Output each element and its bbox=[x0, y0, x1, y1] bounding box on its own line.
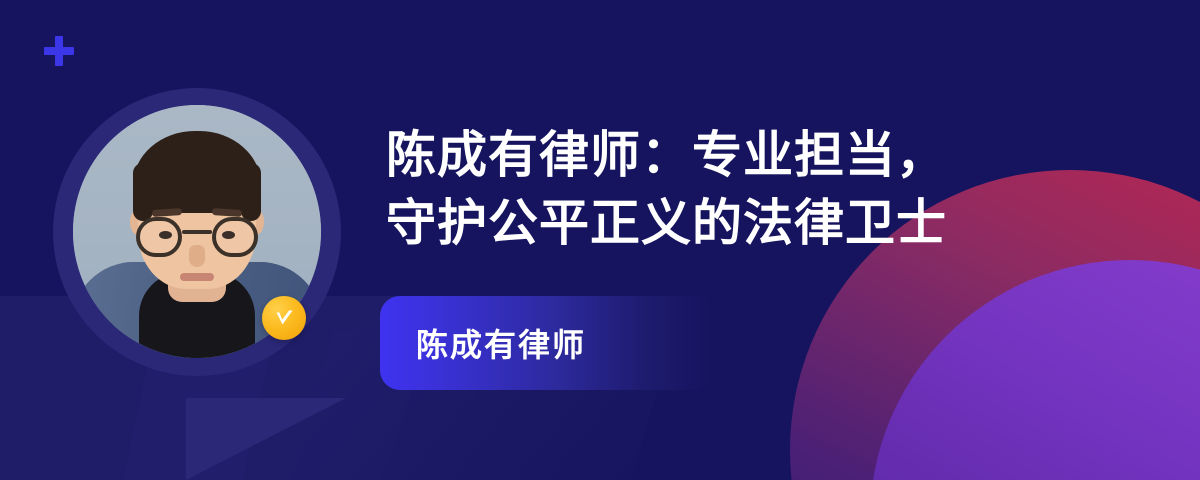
decorative-triangle bbox=[186, 398, 346, 480]
portrait-mouth bbox=[180, 273, 214, 281]
glasses-bridge bbox=[182, 230, 212, 234]
portrait-nose bbox=[189, 245, 205, 267]
headline-line-2: 守护公平正义的法律卫士 bbox=[386, 190, 1086, 258]
glasses-lens-left bbox=[136, 217, 182, 257]
verified-badge-icon bbox=[262, 296, 306, 340]
glasses-lens-right bbox=[212, 217, 258, 257]
promo-banner: 陈成有律师：专业担当， 守护公平正义的法律卫士 陈成有律师 bbox=[0, 0, 1200, 480]
plus-icon-bar-vertical bbox=[55, 36, 63, 66]
page-title: 陈成有律师：专业担当， 守护公平正义的法律卫士 bbox=[386, 122, 1086, 257]
plus-icon bbox=[44, 36, 74, 66]
headline-line-1: 陈成有律师：专业担当， bbox=[386, 122, 1086, 190]
lawyer-name-button[interactable]: 陈成有律师 bbox=[380, 296, 715, 390]
lawyer-name-label: 陈成有律师 bbox=[380, 320, 586, 366]
decorative-arc-purple bbox=[870, 260, 1200, 480]
avatar[interactable] bbox=[53, 88, 341, 376]
